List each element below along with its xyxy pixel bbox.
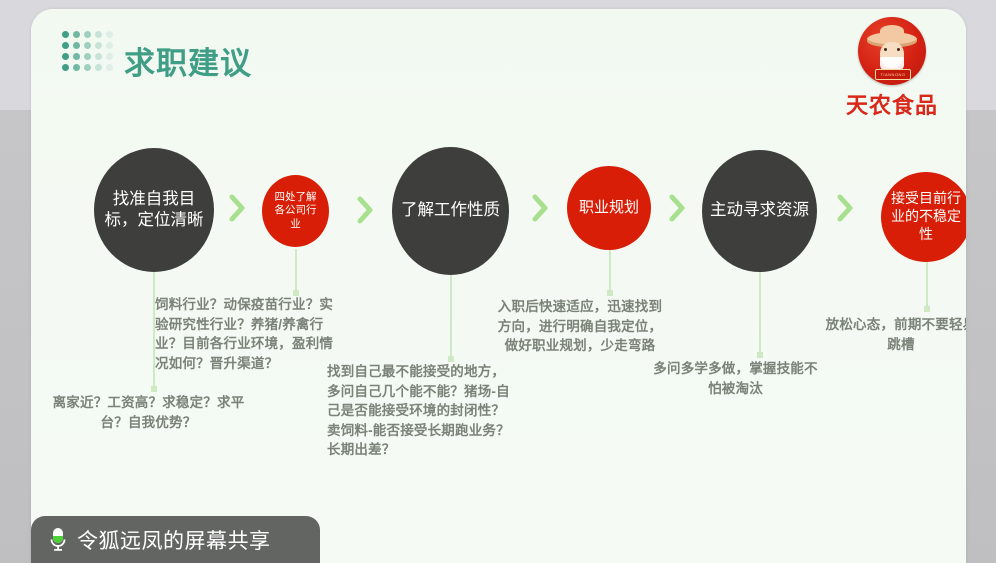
stem-node-3 (450, 275, 452, 359)
flow-node-4[interactable]: 职业规划 (567, 166, 651, 250)
flow-node-4-label: 职业规划 (571, 198, 647, 217)
emblem-ribbon-text: TIANNONG (875, 69, 911, 80)
chevron-right-icon-1 (228, 192, 246, 224)
chevron-right-icon-5 (836, 192, 854, 224)
farmer-emblem-icon: TIANNONG (858, 17, 926, 85)
brand-name: 天农食品 (838, 88, 946, 120)
page-title: 求职建议 (124, 38, 252, 83)
flow-node-1[interactable]: 找准自我目标，定位清晰 (94, 148, 214, 272)
flow-node-5[interactable]: 主动寻求资源 (702, 150, 817, 272)
flow-node-3-label: 了解工作性质 (393, 200, 508, 221)
flow-node-5-label: 主动寻求资源 (702, 200, 817, 221)
chevron-right-icon-4 (668, 192, 686, 224)
flow-node-6[interactable]: 接受目前行业的不稳定性 (881, 172, 966, 262)
caption-4: 入职后快速适应，迅速找到方向，进行明确自我定位，做好职业规划，少走弯路 (495, 297, 665, 356)
caption-3: 找到自己最不能接受的地方，多问自己几个能不能？猪场-自己是否能接受环境的封闭性？… (327, 362, 512, 460)
dot-grid-decoration (62, 31, 117, 75)
slide-background (31, 9, 966, 563)
stem-node-6 (926, 261, 928, 309)
stem-node-5 (759, 271, 761, 355)
screen-share-bar[interactable]: 令狐远凤的屏幕共享 (31, 516, 320, 563)
brand-logo: TIANNONG 天农食品 (838, 17, 946, 120)
screen-share-label: 令狐远凤的屏幕共享 (77, 525, 271, 555)
flow-node-1-label: 找准自我目标，定位清晰 (94, 189, 214, 231)
flow-node-6-label: 接受目前行业的不稳定性 (881, 190, 966, 244)
flow-node-2-label: 四处了解各公司行业 (262, 191, 329, 231)
stem-node-4 (609, 249, 611, 293)
caption-1: 离家近？工资高？求稳定？求平台？自我优势？ (41, 393, 256, 432)
chevron-right-icon-3 (531, 192, 549, 224)
flow-node-3[interactable]: 了解工作性质 (392, 147, 509, 275)
stem-node-2 (295, 249, 297, 293)
caption-6: 放松心态，前期不要轻易跳槽 (821, 315, 966, 354)
presentation-slide: 求职建议 TIANNONG 天农食品 找准自我目标，定位清晰 四处了解各公司行业… (31, 9, 966, 563)
flow-node-2[interactable]: 四处了解各公司行业 (262, 175, 329, 247)
microphone-icon[interactable] (49, 527, 67, 553)
caption-5: 多问多学多做，掌握技能不怕被淘汰 (648, 359, 823, 398)
chevron-right-icon-2 (356, 194, 374, 226)
caption-2: 饲料行业？动保疫苗行业？实验研究性行业？养猪/养禽行业？目前各行业环境，盈利情况… (155, 295, 345, 373)
